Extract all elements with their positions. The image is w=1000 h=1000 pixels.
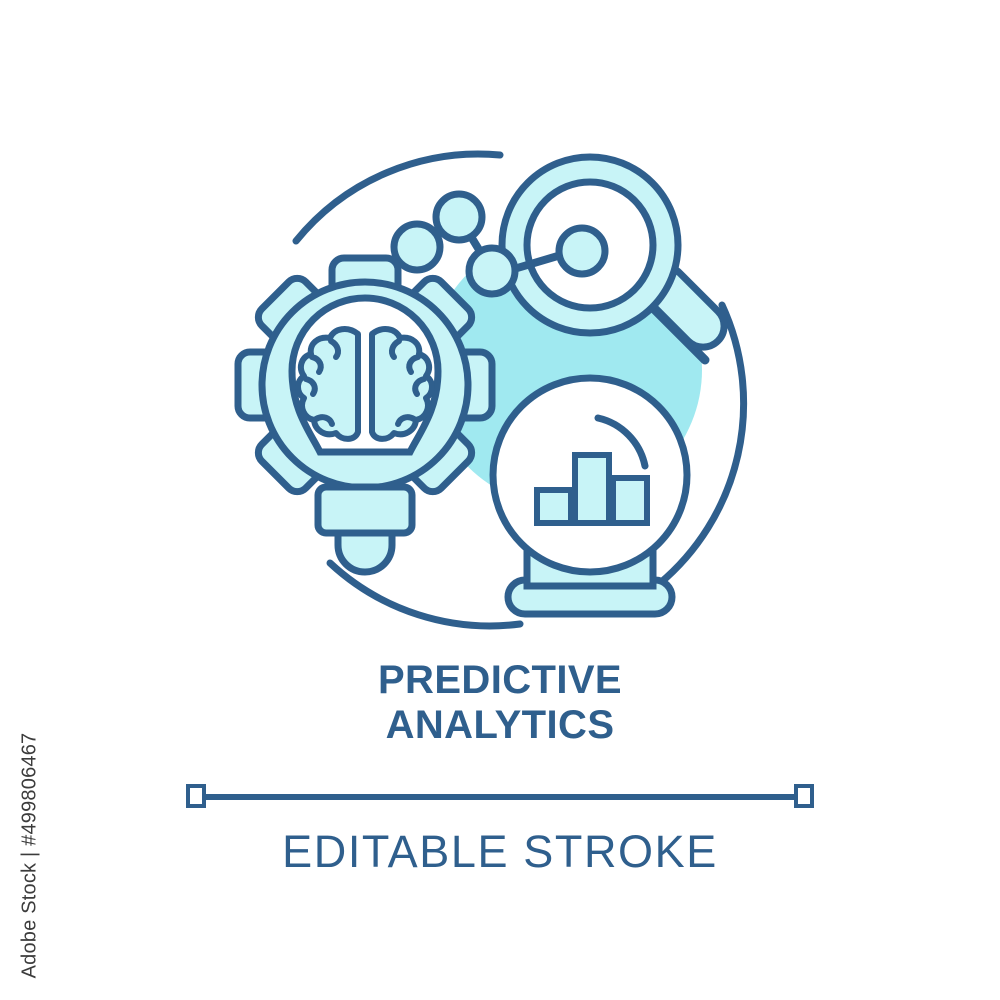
network-node-3: [469, 248, 515, 294]
network-node-2: [436, 194, 482, 240]
adobe-stock-watermark: Adobe Stock | #499806467: [8, 718, 42, 998]
page-title: PREDICTIVE ANALYTICS: [0, 658, 1000, 748]
crystal-ball-group: [493, 378, 687, 614]
magnifier-center-node: [559, 228, 605, 274]
watermark-text: Adobe Stock | #499806467: [19, 716, 42, 996]
subtitle-editable-stroke: EDITABLE STROKE: [0, 826, 1000, 878]
network-node-1: [394, 224, 440, 270]
node-network-group: [394, 194, 515, 294]
divider-line: [199, 794, 801, 800]
gear-lightbulb-group: [238, 258, 492, 572]
right-square-handle[interactable]: [794, 784, 814, 808]
lightbulb-tip: [338, 533, 392, 572]
title-line-1: PREDICTIVE: [0, 658, 1000, 703]
chart-bar-3: [613, 478, 647, 523]
chart-bar-2: [575, 455, 609, 523]
title-line-2: ANALYTICS: [0, 703, 1000, 748]
stroke-divider: [186, 784, 814, 810]
chart-bar-1: [537, 490, 571, 523]
illustration-canvas: PREDICTIVE ANALYTICS EDITABLE STROKE Ado…: [0, 0, 1000, 1000]
lightbulb-cap: [318, 487, 412, 533]
left-square-handle[interactable]: [186, 784, 206, 808]
